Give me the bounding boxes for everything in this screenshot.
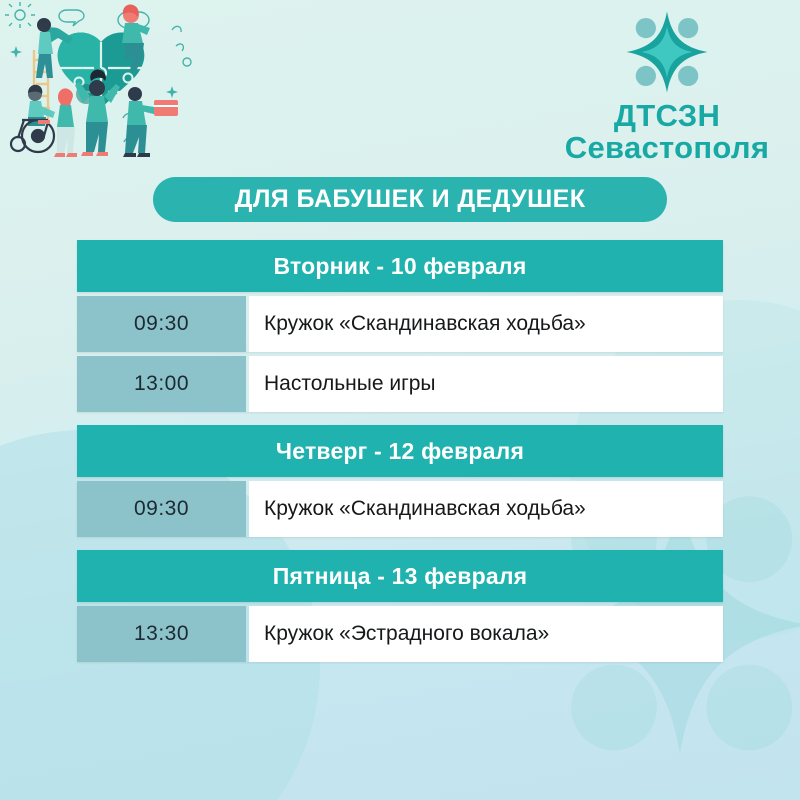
- event-title-label: Кружок «Скандинавская ходьба»: [264, 312, 586, 336]
- event-time-cell: 09:30: [77, 296, 246, 352]
- logo-text-line2: Севастополя: [552, 132, 782, 164]
- event-row: 13:30Кружок «Эстрадного вокала»: [77, 606, 723, 662]
- event-time-cell: 09:30: [77, 481, 246, 537]
- day-group: Пятница - 13 февраля13:30Кружок «Эстрадн…: [77, 550, 723, 662]
- event-title-label: Кружок «Эстрадного вокала»: [264, 622, 549, 646]
- event-row: 13:00Настольные игры: [77, 356, 723, 412]
- day-header-label: Четверг - 12 февраля: [276, 438, 524, 465]
- event-row: 09:30Кружок «Скандинавская ходьба»: [77, 296, 723, 352]
- day-group: Четверг - 12 февраля09:30Кружок «Скандин…: [77, 425, 723, 537]
- people-building-heart-puzzle-illustration: [4, 2, 204, 162]
- page-title-banner: ДЛЯ БАБУШЕК И ДЕДУШЕК: [153, 177, 667, 222]
- event-time-cell: 13:30: [77, 606, 246, 662]
- day-header-label: Пятница - 13 февраля: [273, 563, 528, 590]
- event-title-cell: Кружок «Скандинавская ходьба»: [249, 481, 723, 537]
- event-time-label: 09:30: [134, 312, 189, 336]
- day-group: Вторник - 10 февраля09:30Кружок «Скандин…: [77, 240, 723, 412]
- event-title-label: Кружок «Скандинавская ходьба»: [264, 497, 586, 521]
- logo-text-line1: ДТСЗН: [552, 100, 782, 132]
- event-title-cell: Кружок «Скандинавская ходьба»: [249, 296, 723, 352]
- event-row: 09:30Кружок «Скандинавская ходьба»: [77, 481, 723, 537]
- page-title: ДЛЯ БАБУШЕК И ДЕДУШЕК: [235, 185, 586, 214]
- event-time-label: 13:00: [134, 372, 189, 396]
- event-title-cell: Настольные игры: [249, 356, 723, 412]
- schedule-table: Вторник - 10 февраля09:30Кружок «Скандин…: [77, 240, 723, 675]
- poster-canvas: ДТСЗН Севастополя ДЛЯ БАБУШЕК И ДЕДУШЕК …: [0, 0, 800, 800]
- day-header: Пятница - 13 февраля: [77, 550, 723, 602]
- day-header-label: Вторник - 10 февраля: [274, 253, 527, 280]
- event-time-label: 13:30: [134, 622, 189, 646]
- organization-logo: ДТСЗН Севастополя: [552, 6, 782, 164]
- event-title-label: Настольные игры: [264, 372, 436, 396]
- event-time-label: 09:30: [134, 497, 189, 521]
- event-time-cell: 13:00: [77, 356, 246, 412]
- day-header: Четверг - 12 февраля: [77, 425, 723, 477]
- event-title-cell: Кружок «Эстрадного вокала»: [249, 606, 723, 662]
- four-point-star-with-circles-icon: [621, 6, 713, 98]
- day-header: Вторник - 10 февраля: [77, 240, 723, 292]
